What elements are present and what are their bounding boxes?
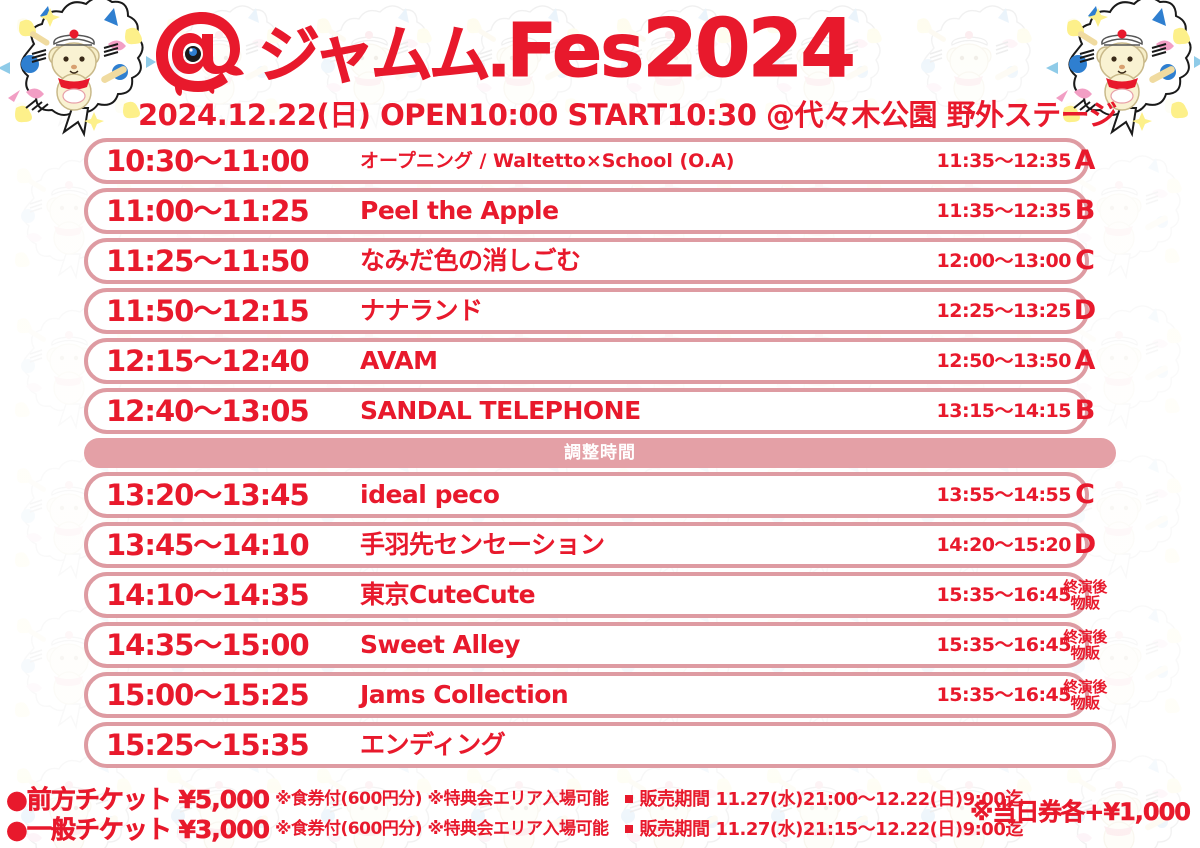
slot-time: 12:40〜13:05: [88, 396, 338, 426]
stage-letter: B: [1054, 388, 1116, 434]
logo-jp-part: ジャムム.: [258, 18, 506, 91]
same-day-ticket-note: ※当日券各+¥1,000: [970, 798, 1190, 826]
artist-name: AVAM: [338, 347, 905, 375]
ticket-footer: ●前方チケット ¥5,000※食券付(600円分) ※特典会エリア入場可能販売期…: [0, 784, 1200, 848]
stage-letter: B: [1054, 188, 1116, 234]
table-row: 15:25〜15:35エンディング: [84, 722, 1116, 768]
break-bar: 調整時間: [84, 438, 1116, 468]
ticket-name-price: ●前方チケット ¥5,000: [6, 786, 269, 813]
event-subtitle: 2024.12.22(日) OPEN10:00 START10:30 @代々木公…: [138, 98, 1117, 132]
sale-period-label: 販売期間: [640, 819, 710, 840]
stage-letter: C: [1054, 238, 1116, 284]
slot-time: 14:35〜15:00: [88, 630, 338, 660]
artist-name: 東京CuteCute: [338, 581, 905, 609]
merch-note-line1: 終演後: [1063, 579, 1107, 595]
merch-note: 終演後物販: [1054, 672, 1116, 718]
table-row: 12:40〜13:05SANDAL TELEPHONE13:15〜14:15B: [84, 388, 1116, 434]
merch-note-line1: 終演後: [1063, 679, 1107, 695]
artist-name: エンディング: [338, 731, 932, 759]
break-label: 調整時間: [564, 443, 636, 463]
artist-name: Sweet Alley: [338, 631, 905, 659]
table-row: 10:30〜11:00オープニング / Waltetto×School (O.A…: [84, 138, 1116, 184]
schedule-row-pill: 13:45〜14:10手羽先センセーション14:20〜15:20: [84, 522, 1089, 568]
sale-period-label: 販売期間: [640, 789, 710, 810]
artist-name: ナナランド: [338, 297, 905, 325]
artist-name: Peel the Apple: [338, 197, 905, 225]
stage-letter: D: [1054, 522, 1116, 568]
logo-latin-part: Fes: [506, 8, 642, 94]
schedule-row-pill: 10:30〜11:00オープニング / Waltetto×School (O.A…: [84, 138, 1089, 184]
artist-name: なみだ色の消しごむ: [338, 247, 905, 275]
slot-time: 13:45〜14:10: [88, 530, 338, 560]
slot-time: 12:15〜12:40: [88, 346, 338, 376]
schedule-row-pill: 14:10〜14:35東京CuteCute15:35〜16:45: [84, 572, 1089, 618]
table-row: 13:20〜13:45ideal peco13:55〜14:55C: [84, 472, 1116, 518]
schedule-row-pill: 11:00〜11:25Peel the Apple11:35〜12:35: [84, 188, 1089, 234]
slot-time: 11:25〜11:50: [88, 246, 338, 276]
artist-name: オープニング / Waltetto×School (O.A): [338, 147, 905, 175]
table-row: 11:25〜11:50なみだ色の消しごむ12:00〜13:00C: [84, 238, 1116, 284]
festival-logo: ジャムム.Fes2024: [150, 6, 1050, 98]
artist-name: 手羽先センセーション: [338, 531, 905, 559]
bear-mascot-icon: [0, 0, 156, 140]
schedule-row-pill: 11:25〜11:50なみだ色の消しごむ12:00〜13:00: [84, 238, 1089, 284]
ticket-notes: ※食券付(600円分) ※特典会エリア入場可能: [275, 819, 609, 839]
schedule-row-pill: 14:35〜15:00Sweet Alley15:35〜16:45: [84, 622, 1089, 668]
logo-wordmark: ジャムム.Fes2024: [258, 10, 853, 94]
schedule-row-pill: 12:40〜13:05SANDAL TELEPHONE13:15〜14:15: [84, 388, 1089, 434]
ticket-notes: ※食券付(600円分) ※特典会エリア入場可能: [275, 789, 609, 809]
table-row: 15:00〜15:25Jams Collection15:35〜16:45終演後…: [84, 672, 1116, 718]
at-sign-spiral-icon: [150, 8, 254, 96]
slot-time: 11:50〜12:15: [88, 296, 338, 326]
slot-time: 10:30〜11:00: [88, 146, 338, 176]
schedule-row-pill: 13:20〜13:45ideal peco13:55〜14:55: [84, 472, 1089, 518]
slot-time: 11:00〜11:25: [88, 196, 338, 226]
artist-name: SANDAL TELEPHONE: [338, 397, 905, 425]
table-row: 14:35〜15:00Sweet Alley15:35〜16:45終演後物販: [84, 622, 1116, 668]
schedule-row-pill: 15:00〜15:25Jams Collection15:35〜16:45: [84, 672, 1089, 718]
schedule-table: 10:30〜11:00オープニング / Waltetto×School (O.A…: [0, 138, 1200, 780]
poster-header: ジャムム.Fes2024 2024.12.22(日) OPEN10:00 STA…: [0, 0, 1200, 138]
poster-page: ジャムム.Fes2024 2024.12.22(日) OPEN10:00 STA…: [0, 0, 1200, 848]
artist-name: Jams Collection: [338, 681, 905, 709]
stage-letter: A: [1054, 338, 1116, 384]
table-row: 11:50〜12:15ナナランド12:25〜13:25D: [84, 288, 1116, 334]
merch-note-line2: 物販: [1070, 595, 1099, 611]
merch-note-line2: 物販: [1070, 695, 1099, 711]
slot-time: 14:10〜14:35: [88, 580, 338, 610]
slot-time: 15:00〜15:25: [88, 680, 338, 710]
stage-letter: C: [1054, 472, 1116, 518]
table-row: 13:45〜14:10手羽先センセーション14:20〜15:20D: [84, 522, 1116, 568]
merch-note-line2: 物販: [1070, 645, 1099, 661]
merch-note-line1: 終演後: [1063, 629, 1107, 645]
schedule-row-pill: 11:50〜12:15ナナランド12:25〜13:25: [84, 288, 1089, 334]
schedule-break-row: 調整時間: [84, 438, 1116, 468]
schedule-row-pill: 15:25〜15:35エンディング: [84, 722, 1116, 768]
bullet-icon: [625, 795, 633, 803]
stage-letter: D: [1054, 288, 1116, 334]
stage-letter: A: [1054, 138, 1116, 184]
logo-year: 2024: [642, 2, 853, 95]
table-row: 12:15〜12:40AVAM12:50〜13:50A: [84, 338, 1116, 384]
merch-note: 終演後物販: [1054, 622, 1116, 668]
merch-note: 終演後物販: [1054, 572, 1116, 618]
slot-time: 13:20〜13:45: [88, 480, 338, 510]
slot-time: 15:25〜15:35: [88, 730, 338, 760]
bullet-icon: [625, 825, 633, 833]
table-row: 14:10〜14:35東京CuteCute15:35〜16:45終演後物販: [84, 572, 1116, 618]
ticket-name-price: ●一般チケット ¥3,000: [6, 816, 269, 843]
schedule-row-pill: 12:15〜12:40AVAM12:50〜13:50: [84, 338, 1089, 384]
artist-name: ideal peco: [338, 481, 905, 509]
table-row: 11:00〜11:25Peel the Apple11:35〜12:35B: [84, 188, 1116, 234]
